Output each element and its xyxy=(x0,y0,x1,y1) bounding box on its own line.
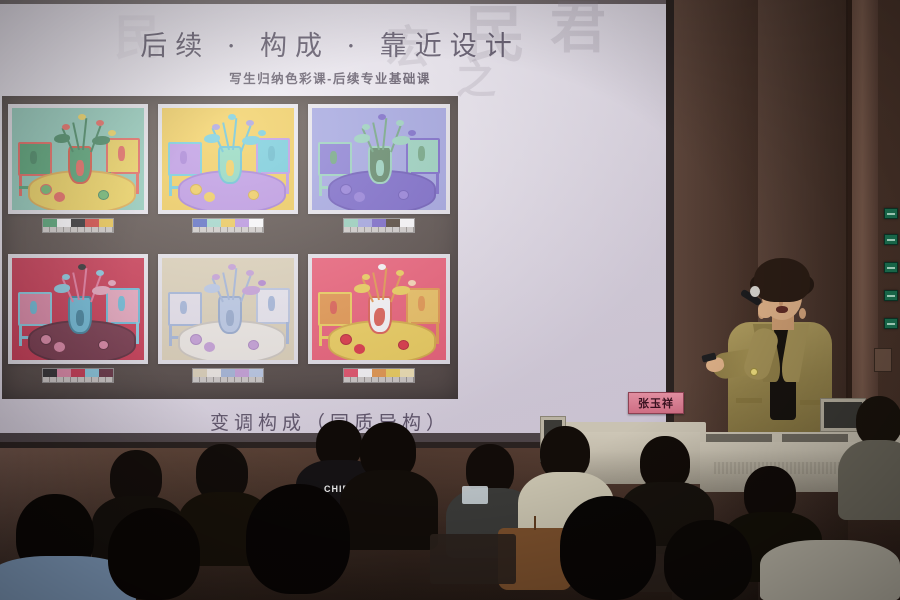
artwork-image xyxy=(12,258,144,360)
fruit xyxy=(398,190,409,200)
audience-head-front xyxy=(560,496,656,600)
artwork-mat xyxy=(8,254,148,364)
lapel-badge xyxy=(750,368,758,376)
chair-leg xyxy=(436,172,439,194)
fruit xyxy=(204,342,215,352)
color-swatch-strip xyxy=(42,218,114,233)
chair-panel xyxy=(418,296,425,311)
flower xyxy=(212,124,220,130)
microphone-head-icon xyxy=(750,286,760,297)
wall-sign-icon xyxy=(884,290,898,301)
fruit xyxy=(340,334,352,345)
chair-leg xyxy=(436,322,439,344)
fruit xyxy=(354,192,365,202)
chair-panel xyxy=(30,301,37,314)
chair-panel xyxy=(30,151,37,164)
audience-body xyxy=(340,470,438,550)
chair-panel xyxy=(268,146,275,161)
chair-panel xyxy=(268,296,275,311)
wall-sign-icon xyxy=(884,262,898,273)
audience-body xyxy=(838,440,900,520)
fruit xyxy=(398,340,409,350)
fruit xyxy=(204,192,215,202)
slide-title: 后续 · 构成 · 靠近设计 xyxy=(0,24,666,63)
flower xyxy=(78,264,86,270)
wall-outlet xyxy=(874,348,892,372)
chair-panel xyxy=(418,146,425,161)
chair-leg xyxy=(286,322,289,344)
vase-motif xyxy=(76,310,84,326)
flower xyxy=(228,114,236,120)
fruit xyxy=(54,192,65,202)
swatch-colors xyxy=(43,369,113,377)
swatch-labels xyxy=(193,377,263,382)
swatch-labels xyxy=(344,227,414,232)
wall-sign-icon xyxy=(884,234,898,245)
chair-panel xyxy=(330,301,337,314)
artwork-cell xyxy=(158,254,298,386)
slide-subtitle: 写生归纳色彩课-后续专业基础课 xyxy=(0,68,666,87)
flower xyxy=(408,280,416,286)
jacket-pocket xyxy=(736,398,762,403)
flower xyxy=(362,124,370,130)
vase-motif xyxy=(226,310,234,326)
chair-panel xyxy=(330,151,337,164)
audience-tablet xyxy=(462,486,488,504)
artwork-cell xyxy=(308,254,450,386)
flower xyxy=(228,264,236,270)
flower xyxy=(258,280,266,286)
presenter-hair xyxy=(754,258,810,302)
ear-right xyxy=(799,308,806,319)
fruit xyxy=(40,334,52,345)
flower xyxy=(378,264,386,270)
flower xyxy=(246,270,254,276)
audience-body-front xyxy=(760,540,900,600)
artwork-mat xyxy=(308,104,450,214)
swatch-labels xyxy=(344,377,414,382)
chair-leg xyxy=(19,324,22,346)
vase-motif xyxy=(376,160,384,176)
presenter-hand-right xyxy=(758,302,773,318)
artwork-board xyxy=(2,96,458,399)
swatch-colors xyxy=(43,219,113,227)
swatch-labels xyxy=(193,227,263,232)
flower xyxy=(96,120,104,126)
projection-screen-frame: 民 宏 之 君 民 后续 · 构成 · 靠近设计 写生归纳色彩课-后续专业基础课 xyxy=(0,0,674,448)
wall-sign-icon xyxy=(884,208,898,219)
flower xyxy=(212,274,220,280)
seat-back xyxy=(430,534,516,584)
swatch-colors xyxy=(193,219,263,227)
vase-motif xyxy=(226,160,234,176)
flower xyxy=(78,114,86,120)
artwork-mat xyxy=(158,104,298,214)
flower xyxy=(408,130,416,136)
fruit xyxy=(354,344,365,354)
flower xyxy=(108,280,116,286)
color-swatch-strip xyxy=(192,368,264,383)
fruit xyxy=(190,334,202,345)
chair-leg xyxy=(319,174,322,196)
fruit xyxy=(248,340,259,350)
lecture-hall-photo: 民 宏 之 君 民 后续 · 构成 · 靠近设计 写生归纳色彩课-后续专业基础课 xyxy=(0,0,900,600)
artwork-mat xyxy=(308,254,450,364)
fruit xyxy=(54,342,65,352)
artwork-cell xyxy=(308,104,450,236)
artwork-image xyxy=(162,258,294,360)
artwork-image xyxy=(312,108,446,210)
chair-panel xyxy=(118,146,125,161)
desk-slot xyxy=(782,434,848,442)
flower xyxy=(108,130,116,136)
swatch-labels xyxy=(43,227,113,232)
projection-screen: 民 宏 之 君 民 后续 · 构成 · 靠近设计 写生归纳色彩课-后续专业基础课 xyxy=(0,0,666,442)
chair-leg xyxy=(136,172,139,194)
name-placard: 张玉祥 xyxy=(628,392,684,414)
artwork-mat xyxy=(8,104,148,214)
flower xyxy=(396,270,404,276)
artwork-image xyxy=(162,108,294,210)
artwork-image xyxy=(12,108,144,210)
flower xyxy=(258,130,266,136)
artwork-image xyxy=(312,258,446,360)
fruit xyxy=(98,340,109,350)
chair-leg xyxy=(319,324,322,346)
fruit xyxy=(190,184,202,195)
fruit xyxy=(248,190,259,200)
fruit xyxy=(40,184,52,195)
flower xyxy=(396,120,404,126)
artwork-cell xyxy=(158,104,298,236)
fruit xyxy=(340,184,352,195)
color-swatch-strip xyxy=(192,218,264,233)
chair-leg xyxy=(136,322,139,344)
chair-panel xyxy=(180,301,187,314)
chair-leg xyxy=(286,172,289,194)
audience-head-front xyxy=(108,508,200,600)
flower xyxy=(62,124,70,130)
flower xyxy=(246,120,254,126)
flower xyxy=(362,274,370,280)
artwork-cell xyxy=(8,254,148,386)
chair-panel xyxy=(118,296,125,311)
fruit xyxy=(98,190,109,200)
chair-leg xyxy=(169,174,172,196)
vase-motif xyxy=(76,160,84,176)
swatch-colors xyxy=(344,219,414,227)
desk-slot xyxy=(706,434,772,442)
chair-panel xyxy=(180,151,187,164)
swatch-colors xyxy=(344,369,414,377)
swatch-labels xyxy=(43,377,113,382)
flower xyxy=(378,114,386,120)
flower xyxy=(96,270,104,276)
color-swatch-strip xyxy=(42,368,114,383)
presenter-mouth xyxy=(776,306,788,313)
flower xyxy=(62,274,70,280)
wall-sign-icon xyxy=(884,318,898,329)
swatch-colors xyxy=(193,369,263,377)
artwork-cell xyxy=(8,104,148,236)
chair-leg xyxy=(169,324,172,346)
artwork-mat xyxy=(158,254,298,364)
audience-head-front xyxy=(664,520,752,600)
audience-head-front xyxy=(246,484,350,594)
color-swatch-strip xyxy=(343,368,415,383)
audience-head xyxy=(856,396,900,446)
chair-leg xyxy=(19,174,22,196)
color-swatch-strip xyxy=(343,218,415,233)
